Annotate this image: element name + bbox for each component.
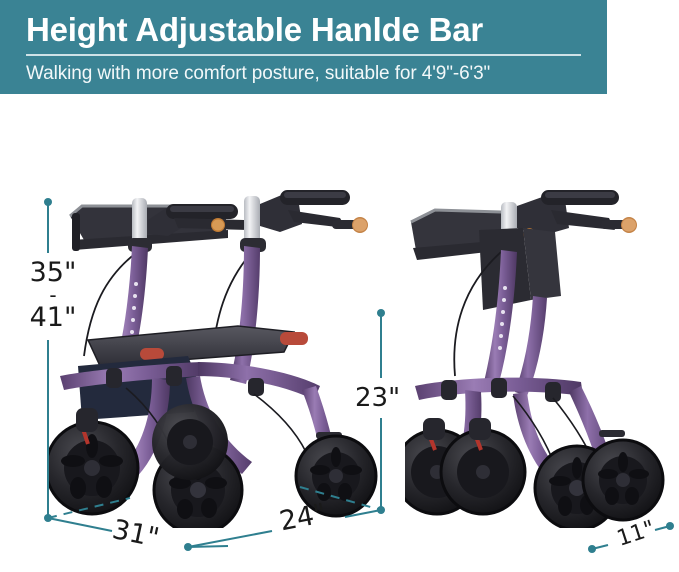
header-banner: Height Adjustable Hanlde Bar Walking wit… xyxy=(0,0,607,94)
infographic-canvas: Height Adjustable Hanlde Bar Walking wit… xyxy=(0,0,679,572)
wheel-rear-left xyxy=(48,408,138,514)
page-subtitle: Walking with more comfort posture, suita… xyxy=(26,58,490,90)
height-max: 41" xyxy=(30,302,77,333)
rollator-open-image xyxy=(48,180,378,528)
page-title: Height Adjustable Hanlde Bar xyxy=(26,8,483,52)
title-divider xyxy=(26,54,581,56)
rollator-folded-image xyxy=(405,180,665,528)
dimension-label-height: 35" - 41" xyxy=(22,258,84,332)
wheel-folded-4 xyxy=(583,440,663,520)
seat xyxy=(88,326,308,366)
dimension-label-seat-height: 23" xyxy=(355,383,400,413)
height-separator: - xyxy=(22,287,84,303)
handlebar-assembly-left xyxy=(128,198,248,252)
wheel-rear-right xyxy=(152,404,228,480)
handlebar-assembly-right xyxy=(240,190,368,252)
